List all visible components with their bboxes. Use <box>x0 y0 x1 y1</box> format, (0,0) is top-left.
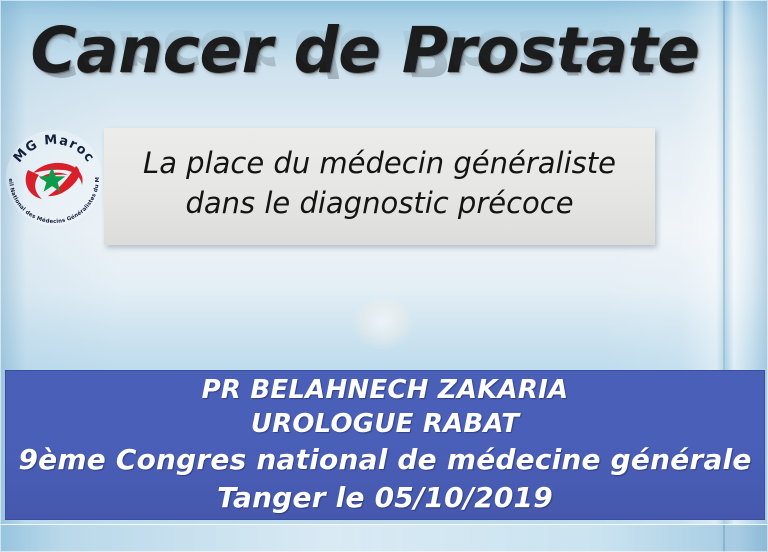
slide-title: Cancer de Prostate <box>0 14 730 88</box>
speaker-title: UROLOGUE RABAT <box>251 407 519 441</box>
event-location-date: Tanger le 05/10/2019 <box>217 479 553 517</box>
mg-maroc-logo: MG Maroc Conseil National des Médecins G… <box>2 126 106 230</box>
subtitle-line-1: La place du médecin généraliste <box>143 143 616 183</box>
presentation-slide: Cancer de Prostate Cancer de Prostate MG… <box>0 0 768 552</box>
subtitle-panel: La place du médecin généraliste dans le … <box>104 128 655 245</box>
slide-title-reflection: Cancer de Prostate <box>0 15 730 89</box>
subtitle-line-2: dans le diagnostic précoce <box>143 183 616 223</box>
subtitle-text-block: La place du médecin généraliste dans le … <box>143 143 616 231</box>
footer-strip <box>0 524 768 552</box>
event-name: 9ème Congres national de médecine généra… <box>18 441 751 479</box>
speaker-name: PR BELAHNECH ZAKARIA <box>202 373 569 407</box>
background-watermark <box>352 300 414 350</box>
speaker-banner: PR BELAHNECH ZAKARIA UROLOGUE RABAT 9ème… <box>5 370 765 520</box>
